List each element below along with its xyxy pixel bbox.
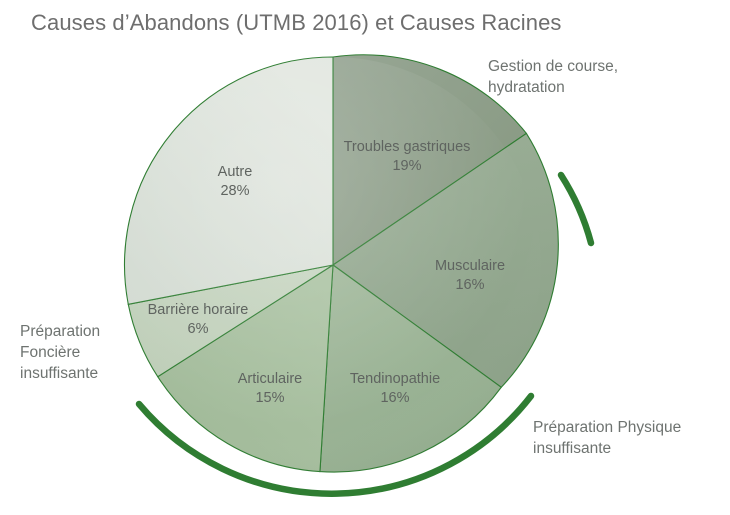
annotation-preparation-fonciere: Préparation Foncière insuffisante (20, 321, 170, 384)
annotation-preparation-physique: Préparation Physique insuffisante (533, 417, 728, 459)
pie-shading-overlay (125, 57, 541, 473)
pie-chart-figure: Causes d’Abandons (UTMB 2016) et Causes … (0, 0, 730, 515)
annotation-gestion-line-1: Gestion de course, (488, 56, 723, 77)
gestion-de-course-bracket-icon (561, 175, 591, 243)
annotation-physique-line-2: insuffisante (533, 438, 728, 459)
pie-slices (125, 55, 559, 473)
annotation-fonciere-line-3: insuffisante (20, 363, 170, 384)
annotation-physique-line-1: Préparation Physique (533, 417, 728, 438)
annotation-gestion-de-course: Gestion de course, hydratation (488, 56, 723, 98)
annotation-fonciere-line-2: Foncière (20, 342, 170, 363)
annotation-gestion-line-2: hydratation (488, 77, 723, 98)
annotation-fonciere-line-1: Préparation (20, 321, 170, 342)
